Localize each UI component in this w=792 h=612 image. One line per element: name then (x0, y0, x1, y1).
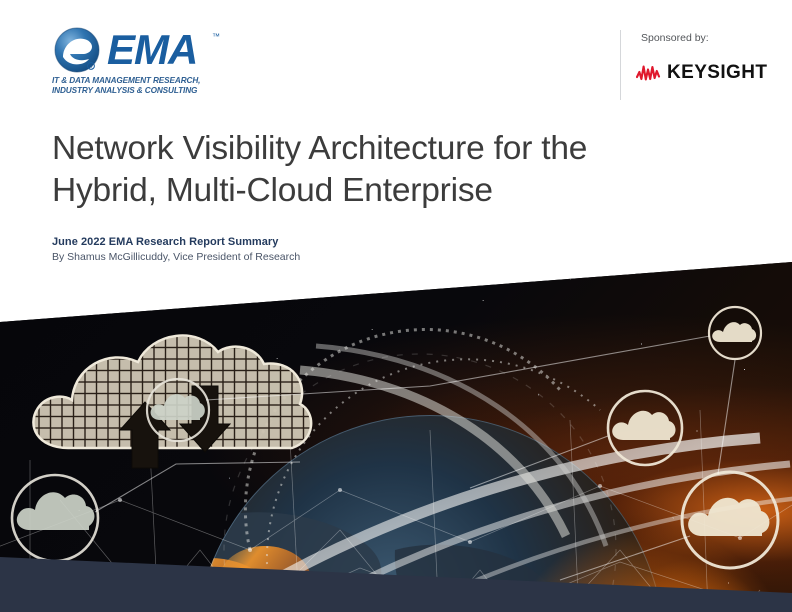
hero-illustration (0, 250, 792, 612)
ema-tagline: IT & DATA MANAGEMENT RESEARCH, INDUSTRY … (52, 76, 232, 97)
ema-tagline-line1: IT & DATA MANAGEMENT RESEARCH, (52, 76, 232, 86)
header-divider (620, 30, 621, 100)
title-line-1: Network Visibility Architecture for the (52, 128, 652, 170)
report-byline: By Shamus McGillicuddy, Vice President o… (52, 251, 300, 263)
hero-inner (0, 250, 792, 612)
report-cover-page: R EMA ™ IT & DATA MANAGEMENT RESEARCH, I… (0, 0, 792, 612)
keysight-logo: KEYSIGHT (636, 62, 767, 84)
ema-wordmark: EMA (107, 28, 197, 72)
ema-trademark: ™ (212, 32, 220, 41)
cloud-node-right-top (709, 307, 761, 359)
ema-tagline-line2: INDUSTRY ANALYSIS & CONSULTING (52, 86, 232, 96)
cloud-node-left-lower (12, 475, 98, 561)
title-line-2: Hybrid, Multi-Cloud Enterprise (52, 170, 652, 212)
ema-sphere-logo-icon: R (50, 26, 108, 74)
ema-logo: R EMA ™ IT & DATA MANAGEMENT RESEARCH, I… (50, 26, 230, 104)
page-header: R EMA ™ IT & DATA MANAGEMENT RESEARCH, I… (0, 0, 792, 120)
page-title: Network Visibility Architecture for the … (52, 128, 652, 212)
keysight-wordmark: KEYSIGHT (667, 62, 767, 84)
sponsored-by-label: Sponsored by: (641, 32, 709, 44)
report-subtitle: June 2022 EMA Research Report Summary (52, 236, 278, 248)
keysight-waveform-icon (636, 64, 662, 82)
hero-graphics (0, 250, 792, 612)
